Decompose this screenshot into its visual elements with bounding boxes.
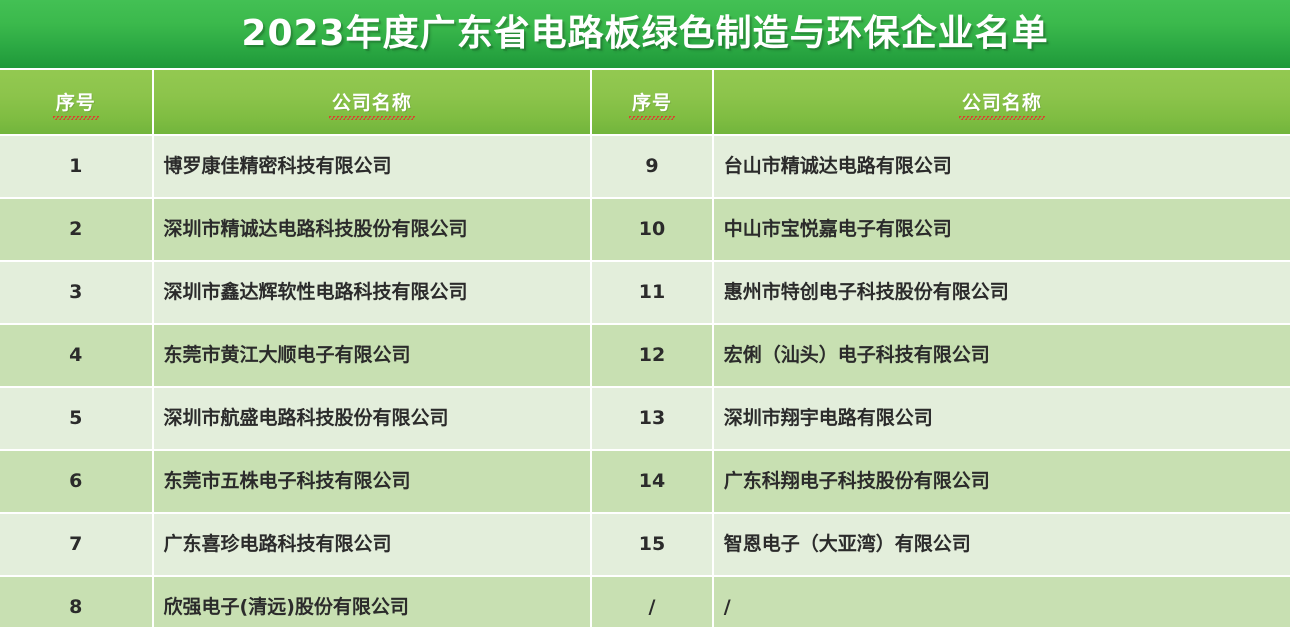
row-number-right-cell: 12 bbox=[592, 325, 712, 386]
company-name-left-cell: 深圳市精诚达电路科技股份有限公司 bbox=[154, 199, 591, 260]
company-name-right: 台山市精诚达电路有限公司 bbox=[724, 155, 952, 178]
company-name-right-cell: 广东科翔电子科技股份有限公司 bbox=[714, 451, 1290, 512]
row-number-left-cell: 1 bbox=[0, 136, 152, 197]
column-header-num-right-label: 序号 bbox=[632, 88, 672, 117]
company-name-left: 深圳市航盛电路科技股份有限公司 bbox=[164, 407, 449, 430]
table-row: 6东莞市五株电子科技有限公司14广东科翔电子科技股份有限公司 bbox=[0, 451, 1290, 512]
company-name-right: / bbox=[724, 596, 731, 619]
row-number-right: 10 bbox=[639, 220, 665, 239]
company-name-left: 博罗康佳精密科技有限公司 bbox=[164, 155, 392, 178]
company-name-left-cell: 深圳市航盛电路科技股份有限公司 bbox=[154, 388, 591, 449]
company-name-left-cell: 东莞市黄江大顺电子有限公司 bbox=[154, 325, 591, 386]
row-number-left: 6 bbox=[69, 472, 82, 491]
table-body: 1博罗康佳精密科技有限公司9台山市精诚达电路有限公司2深圳市精诚达电路科技股份有… bbox=[0, 136, 1290, 627]
row-number-left-cell: 7 bbox=[0, 514, 152, 575]
column-header-num-right: 序号 bbox=[592, 70, 712, 134]
row-number-right: 9 bbox=[645, 157, 658, 176]
column-header-name-right: 公司名称 bbox=[714, 70, 1290, 134]
row-number-right-cell: 15 bbox=[592, 514, 712, 575]
row-number-right-cell: 14 bbox=[592, 451, 712, 512]
company-name-right: 惠州市特创电子科技股份有限公司 bbox=[724, 281, 1009, 304]
row-number-left-cell: 8 bbox=[0, 577, 152, 627]
row-number-left: 4 bbox=[69, 346, 82, 365]
row-number-left-cell: 3 bbox=[0, 262, 152, 323]
company-name-right-cell: 惠州市特创电子科技股份有限公司 bbox=[714, 262, 1290, 323]
company-name-right: 智恩电子（大亚湾）有限公司 bbox=[724, 533, 971, 556]
column-header-num-left: 序号 bbox=[0, 70, 152, 134]
row-number-right-cell: / bbox=[592, 577, 712, 627]
company-name-left-cell: 欣强电子(清远)股份有限公司 bbox=[154, 577, 591, 627]
company-list-table: 序号 公司名称 序号 公司名称 1博罗康佳精密科技有限公司9台山市精诚达电路有限… bbox=[0, 70, 1290, 627]
company-name-left: 深圳市精诚达电路科技股份有限公司 bbox=[164, 218, 468, 241]
row-number-left-cell: 2 bbox=[0, 199, 152, 260]
row-number-right-cell: 9 bbox=[592, 136, 712, 197]
table-row: 7广东喜珍电路科技有限公司15智恩电子（大亚湾）有限公司 bbox=[0, 514, 1290, 575]
table-header-row: 序号 公司名称 序号 公司名称 bbox=[0, 70, 1290, 134]
table-row: 5深圳市航盛电路科技股份有限公司13深圳市翔宇电路有限公司 bbox=[0, 388, 1290, 449]
row-number-left-cell: 4 bbox=[0, 325, 152, 386]
company-name-left: 广东喜珍电路科技有限公司 bbox=[164, 533, 392, 556]
company-name-right: 广东科翔电子科技股份有限公司 bbox=[724, 470, 990, 493]
column-header-name-left: 公司名称 bbox=[154, 70, 591, 134]
row-number-right-cell: 11 bbox=[592, 262, 712, 323]
company-name-left: 东莞市五株电子科技有限公司 bbox=[164, 470, 411, 493]
company-name-left-cell: 广东喜珍电路科技有限公司 bbox=[154, 514, 591, 575]
company-name-right: 中山市宝悦嘉电子有限公司 bbox=[724, 218, 952, 241]
row-number-right: 15 bbox=[639, 535, 665, 554]
table-row: 3深圳市鑫达辉软性电路科技有限公司11惠州市特创电子科技股份有限公司 bbox=[0, 262, 1290, 323]
row-number-right-cell: 10 bbox=[592, 199, 712, 260]
row-number-right-cell: 13 bbox=[592, 388, 712, 449]
row-number-left: 7 bbox=[69, 535, 82, 554]
column-header-name-right-label: 公司名称 bbox=[962, 88, 1042, 117]
company-name-right-cell: / bbox=[714, 577, 1290, 627]
title-banner: 2023年度广东省电路板绿色制造与环保企业名单 bbox=[0, 0, 1290, 68]
table-row: 2深圳市精诚达电路科技股份有限公司10中山市宝悦嘉电子有限公司 bbox=[0, 199, 1290, 260]
row-number-right: 14 bbox=[639, 472, 665, 491]
company-name-right-cell: 中山市宝悦嘉电子有限公司 bbox=[714, 199, 1290, 260]
row-number-right: 12 bbox=[639, 346, 665, 365]
company-name-right-cell: 深圳市翔宇电路有限公司 bbox=[714, 388, 1290, 449]
company-name-right: 宏俐（汕头）电子科技有限公司 bbox=[724, 344, 990, 367]
table-row: 4东莞市黄江大顺电子有限公司12宏俐（汕头）电子科技有限公司 bbox=[0, 325, 1290, 386]
row-number-left: 8 bbox=[69, 598, 82, 617]
row-number-right: / bbox=[649, 598, 656, 617]
document-page: 2023年度广东省电路板绿色制造与环保企业名单 序号 公司名称 序号 公司名称 … bbox=[0, 0, 1290, 627]
row-number-right: 11 bbox=[639, 283, 665, 302]
company-name-right-cell: 智恩电子（大亚湾）有限公司 bbox=[714, 514, 1290, 575]
row-number-left-cell: 5 bbox=[0, 388, 152, 449]
row-number-left: 2 bbox=[69, 220, 82, 239]
page-title: 2023年度广东省电路板绿色制造与环保企业名单 bbox=[241, 16, 1048, 52]
row-number-left: 5 bbox=[69, 409, 82, 428]
company-name-left: 深圳市鑫达辉软性电路科技有限公司 bbox=[164, 281, 468, 304]
row-number-left: 1 bbox=[69, 157, 82, 176]
column-header-name-left-label: 公司名称 bbox=[332, 88, 412, 117]
row-number-right: 13 bbox=[639, 409, 665, 428]
company-name-left: 欣强电子(清远)股份有限公司 bbox=[164, 596, 409, 619]
row-number-left-cell: 6 bbox=[0, 451, 152, 512]
company-name-right-cell: 宏俐（汕头）电子科技有限公司 bbox=[714, 325, 1290, 386]
company-name-left-cell: 深圳市鑫达辉软性电路科技有限公司 bbox=[154, 262, 591, 323]
table-row: 1博罗康佳精密科技有限公司9台山市精诚达电路有限公司 bbox=[0, 136, 1290, 197]
table-row: 8欣强电子(清远)股份有限公司// bbox=[0, 577, 1290, 627]
company-name-left: 东莞市黄江大顺电子有限公司 bbox=[164, 344, 411, 367]
company-name-right: 深圳市翔宇电路有限公司 bbox=[724, 407, 933, 430]
company-name-right-cell: 台山市精诚达电路有限公司 bbox=[714, 136, 1290, 197]
column-header-num-left-label: 序号 bbox=[56, 88, 96, 117]
row-number-left: 3 bbox=[69, 283, 82, 302]
company-name-left-cell: 博罗康佳精密科技有限公司 bbox=[154, 136, 591, 197]
company-name-left-cell: 东莞市五株电子科技有限公司 bbox=[154, 451, 591, 512]
